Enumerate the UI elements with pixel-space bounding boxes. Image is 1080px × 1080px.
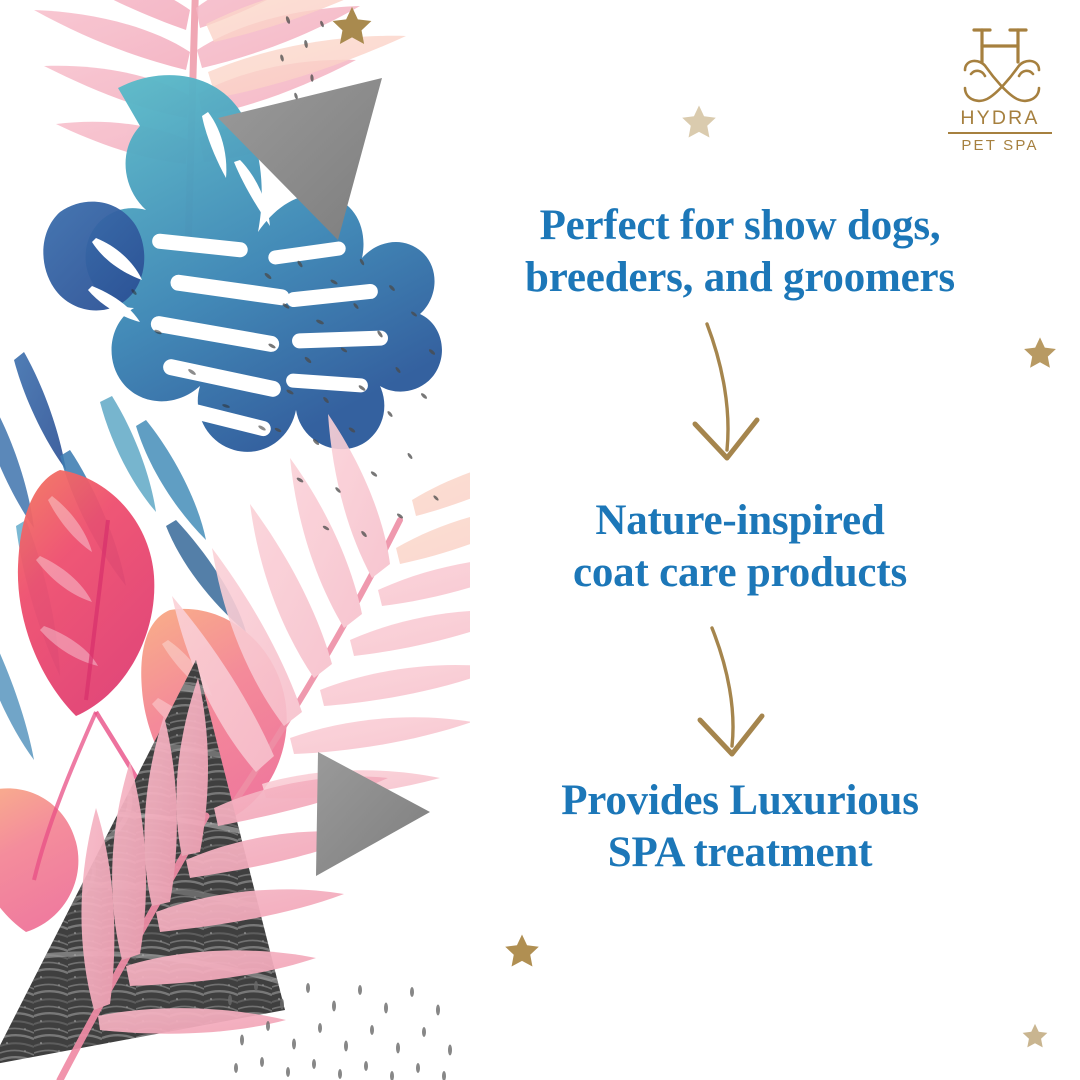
- star-right-icon: [1022, 335, 1058, 376]
- curved-down-arrow-1: [665, 318, 775, 483]
- message-1-line-1: Perfect for show dogs,: [440, 200, 1040, 252]
- star-top-center-icon: [680, 103, 718, 146]
- message-3-line-1: Provides Luxurious: [440, 775, 1040, 827]
- star-top-left-icon: [330, 4, 374, 53]
- curved-down-arrow-2: [672, 622, 782, 777]
- star-bottom-mid-icon: [503, 932, 541, 975]
- star-bottom-right-icon: [1021, 1022, 1049, 1055]
- tropical-artwork: [0, 0, 470, 1080]
- message-column: Perfect for show dogs, breeders, and gro…: [440, 0, 1040, 1080]
- message-2: Nature-inspired coat care products: [440, 495, 1040, 600]
- poster-canvas: HYDRA PET SPA Perfect for show dogs, bre…: [0, 0, 1080, 1080]
- message-2-line-1: Nature-inspired: [440, 495, 1040, 547]
- message-3: Provides Luxurious SPA treatment: [440, 775, 1040, 880]
- message-1: Perfect for show dogs, breeders, and gro…: [440, 200, 1040, 305]
- message-3-line-2: SPA treatment: [440, 827, 1040, 879]
- message-2-line-2: coat care products: [440, 547, 1040, 599]
- message-1-line-2: breeders, and groomers: [440, 252, 1040, 304]
